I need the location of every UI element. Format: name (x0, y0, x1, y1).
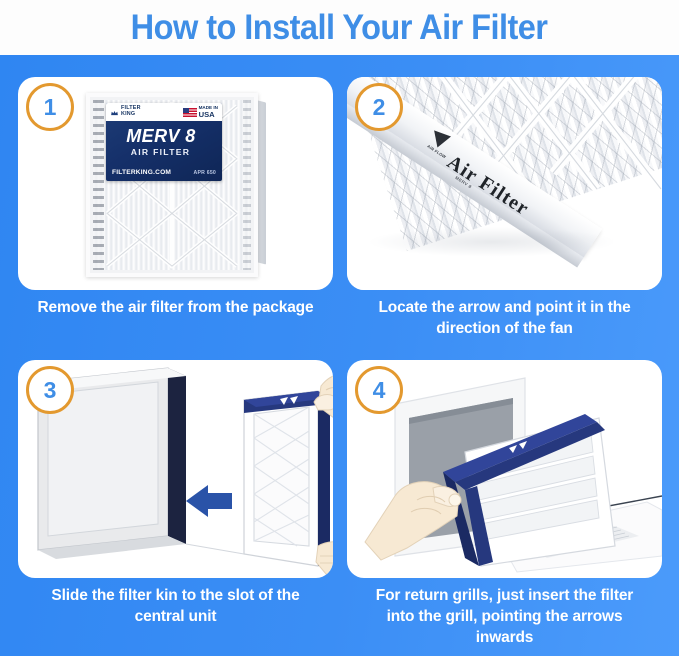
step-4-card: 4 (347, 360, 662, 578)
made-in-country: USA (199, 111, 218, 119)
air-filter-product-photo: FILTER KING MADE IN USA (86, 93, 266, 269)
made-in-text: MADE IN USA (199, 106, 218, 119)
filter-left-spine (93, 100, 104, 270)
label-footer-strip: FILTERKING.COM APR 650 (112, 169, 216, 176)
caption-line: Remove the air filter from the package (22, 297, 329, 318)
step-number-badge-1: 1 (26, 83, 74, 131)
alignment-guide-line (186, 544, 244, 554)
step-4-caption: For return grills, just insert the filte… (347, 585, 662, 648)
step-panel-3: 3 Slide the filter kin to the slot of th… (18, 360, 333, 650)
page-title: How to Install Your Air Filter (131, 10, 548, 45)
label-header-strip: FILTER KING MADE IN USA (106, 103, 222, 121)
caption-line: For return grills, just insert the filte… (351, 585, 658, 606)
step-number-badge-3: 3 (26, 366, 74, 414)
step-panel-2: AIR FLOW Air Filter MERV 8 2 Locate the … (347, 77, 662, 357)
filter-front-face: FILTER KING MADE IN USA (86, 93, 258, 277)
insert-direction-arrow (186, 485, 232, 517)
step-2-caption: Locate the arrow and point it in the dir… (347, 297, 662, 339)
product-label: FILTER KING MADE IN USA (106, 103, 222, 181)
step-3-card: 3 (18, 360, 333, 578)
step-2-card: AIR FLOW Air Filter MERV 8 2 (347, 77, 662, 290)
hand-bottom (316, 542, 333, 574)
filter-right-spine (243, 100, 251, 270)
infographic-poster: How to Install Your Air Filter (0, 0, 679, 656)
merv-rating: MERV 8 (106, 127, 216, 145)
caption-line: Slide the filter kin to the slot of the (22, 585, 329, 606)
step-panel-1: FILTER KING MADE IN USA (18, 77, 333, 357)
brand-text: FILTER KING (121, 106, 141, 117)
made-in-lockup: MADE IN USA (183, 106, 218, 119)
navy-framed-filter (244, 391, 330, 566)
step-1-card: FILTER KING MADE IN USA (18, 77, 333, 290)
caption-line: Locate the arrow and point it in the (351, 297, 658, 318)
caption-line: inwards (351, 627, 658, 648)
step-number-badge-2: 2 (355, 83, 403, 131)
brand-line-2: KING (121, 112, 141, 118)
apr-rating-text: APR 650 (194, 170, 216, 176)
caption-line: central unit (22, 606, 329, 627)
usa-flag-icon (183, 108, 197, 117)
brand-lockup: FILTER KING (110, 106, 141, 117)
step-3-caption: Slide the filter kin to the slot of the … (18, 585, 333, 627)
title-band: How to Install Your Air Filter (0, 0, 679, 55)
website-text: FILTERKING.COM (112, 169, 171, 176)
caption-line: into the grill, pointing the arrows (351, 606, 658, 627)
step-panel-4: 4 For return grills, just insert the fil… (347, 360, 662, 650)
photo-drop-shadow (367, 227, 617, 257)
product-type-label: AIR FILTER (106, 148, 215, 157)
steps-grid: FILTER KING MADE IN USA (0, 55, 679, 656)
step-number-badge-4: 4 (355, 366, 403, 414)
caption-line: direction of the fan (351, 318, 658, 339)
step-1-caption: Remove the air filter from the package (18, 297, 333, 318)
crown-icon (110, 108, 119, 117)
